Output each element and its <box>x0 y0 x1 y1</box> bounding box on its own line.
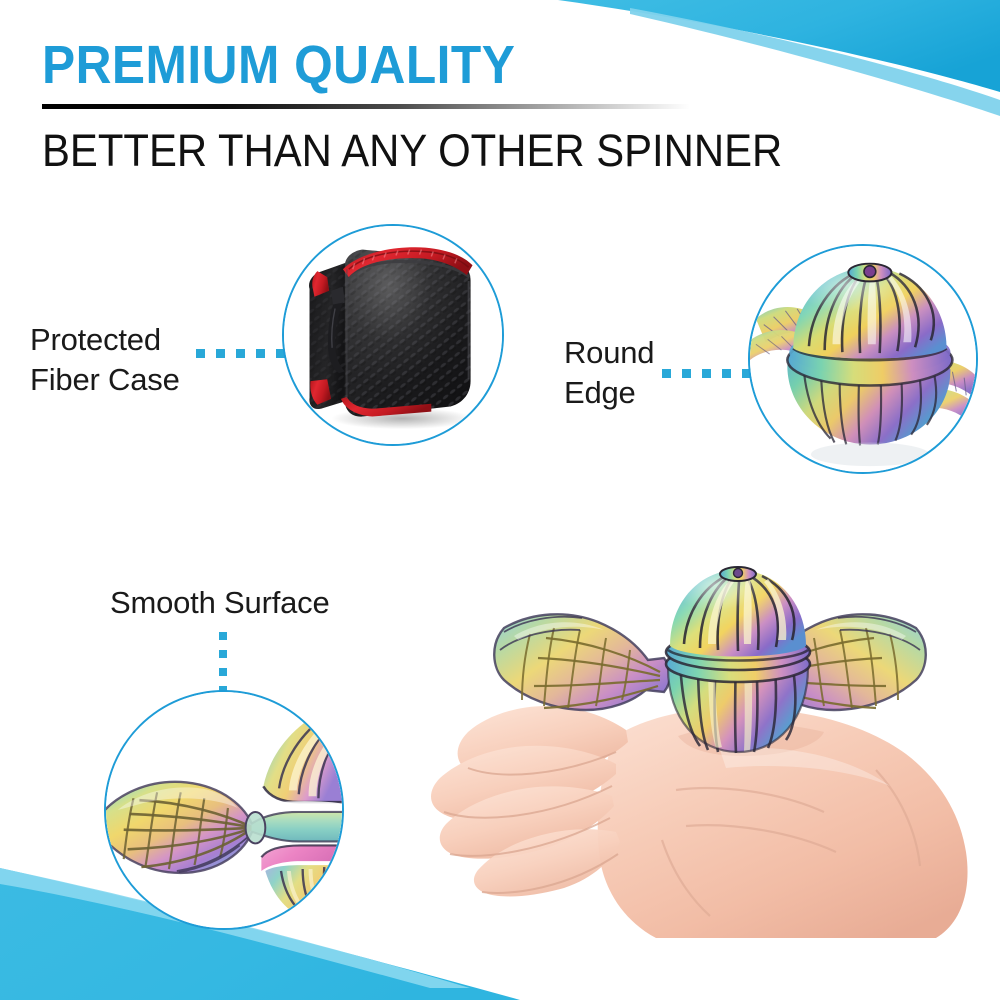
feature-label-round-edge: Round Edge <box>564 333 654 412</box>
feature-label-protected-fiber-case: Protected Fiber Case <box>30 320 180 399</box>
rainbow-wing-detail-image <box>106 692 342 928</box>
connector-dots-protected-fiber-case <box>196 349 285 358</box>
feature-label-smooth-surface: Smooth Surface <box>110 583 329 623</box>
infographic-page: PREMIUM QUALITY BETTER THAN ANY OTHER SP… <box>0 0 1000 1000</box>
hero-photo-hand-with-spinner <box>420 540 1000 940</box>
title-divider <box>42 104 690 109</box>
page-subtitle: BETTER THAN ANY OTHER SPINNER <box>42 127 898 174</box>
product-photo-round-edge <box>748 244 978 474</box>
connector-dots-round-edge <box>662 369 751 378</box>
rainbow-sphere-closeup-image <box>750 246 976 472</box>
page-title: PREMIUM QUALITY <box>42 38 888 92</box>
product-photo-protected-fiber-case <box>282 224 504 446</box>
black-carbon-fiber-case-image <box>284 226 502 444</box>
header: PREMIUM QUALITY BETTER THAN ANY OTHER SP… <box>42 38 962 174</box>
product-photo-smooth-surface <box>104 690 344 930</box>
